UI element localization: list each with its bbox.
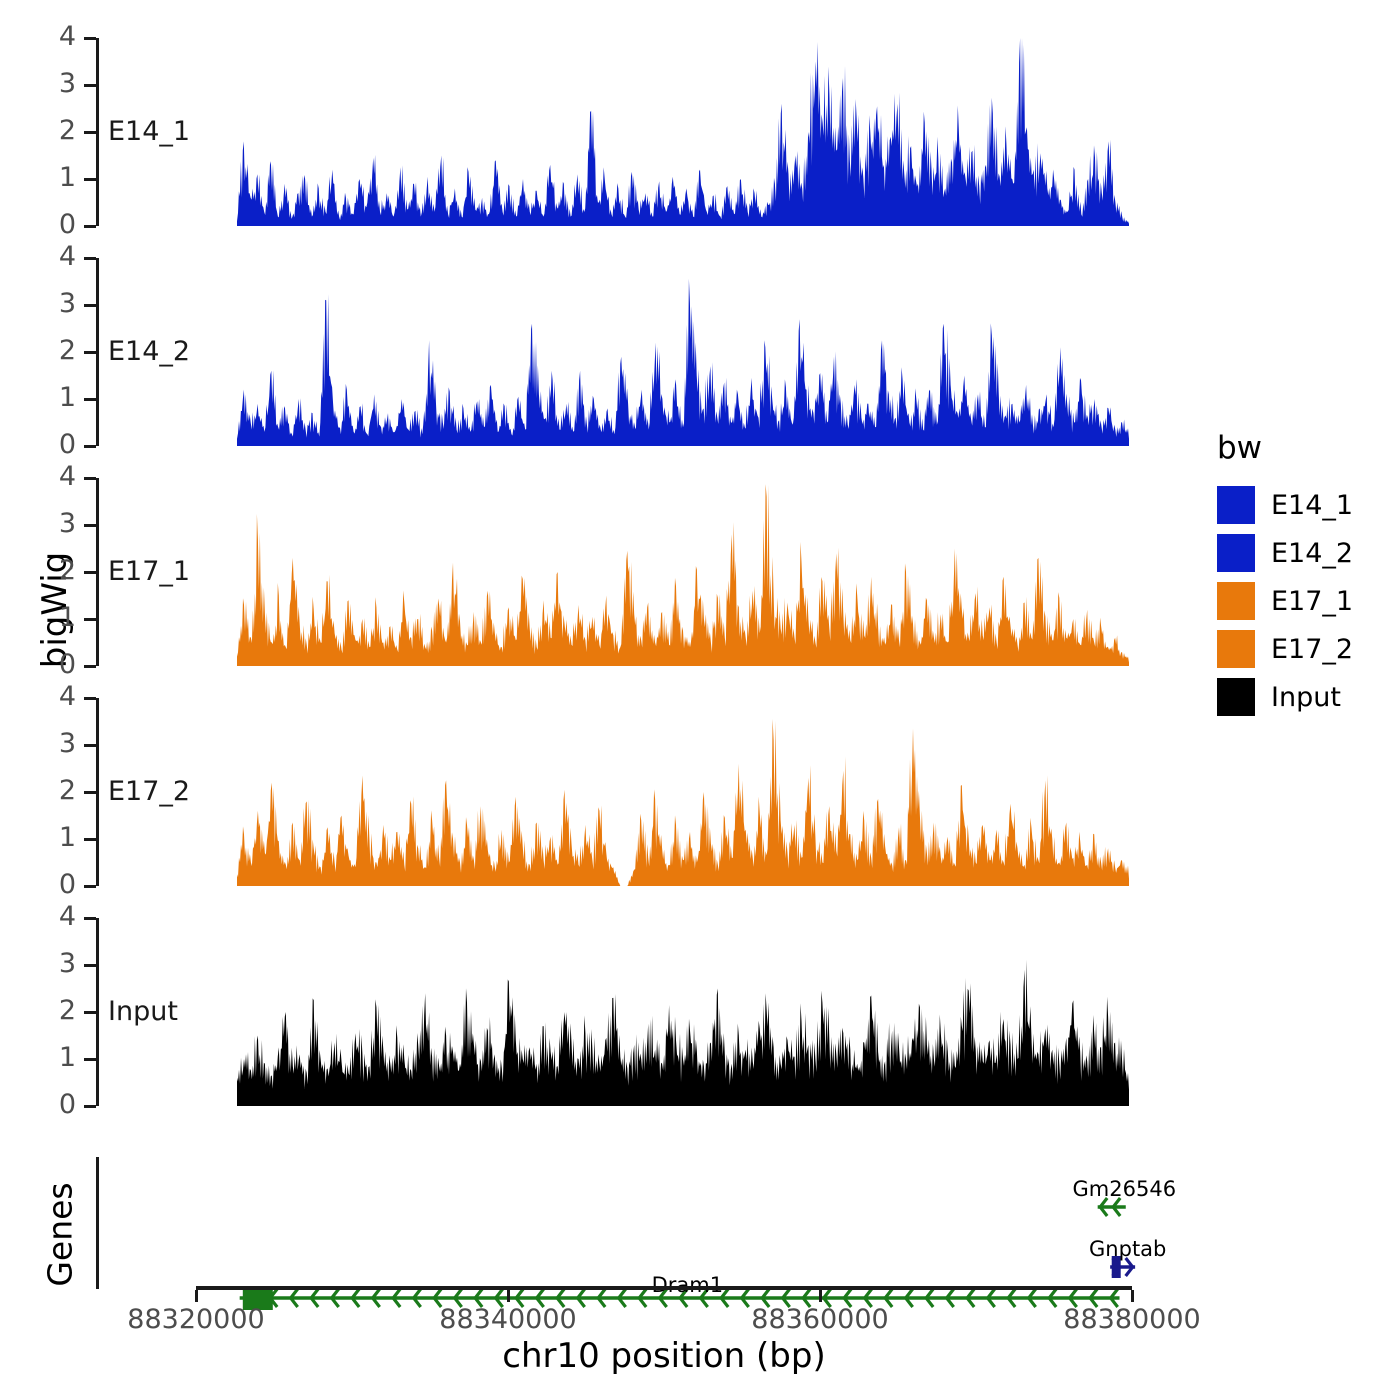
y-tick-mark (84, 571, 96, 574)
y-tick-mark (84, 257, 96, 260)
y-tick-label: 2 (40, 777, 76, 804)
coverage-path (237, 484, 1129, 666)
x-tick-mark (1131, 1290, 1134, 1302)
y-tick-label: 2 (40, 557, 76, 584)
legend-label-e17_2: E17_2 (1271, 634, 1353, 665)
y-tick-label: 4 (40, 683, 76, 710)
y-tick-label: 1 (40, 604, 76, 631)
gene-label-gnptab: Gnptab (1089, 1237, 1166, 1261)
track-e14_1: 43210E14_1 (0, 38, 1200, 226)
y-tick-mark (84, 37, 96, 40)
y-tick-mark (84, 178, 96, 181)
track-e14_2: 43210E14_2 (0, 258, 1200, 446)
coverage-area-e14_1 (99, 38, 1132, 226)
legend-swatch-e14_2 (1217, 534, 1255, 572)
y-tick-mark (84, 665, 96, 668)
x-axis: 88320000883400008836000088380000 (0, 1286, 1400, 1326)
legend-label-input: Input (1271, 682, 1341, 713)
y-tick-mark (84, 351, 96, 354)
y-tick-label: 0 (40, 1091, 76, 1118)
legend-label-e17_1: E17_1 (1271, 586, 1353, 617)
coverage-area-e17_1 (99, 478, 1132, 666)
x-tick-mark (195, 1290, 198, 1302)
track-e17_2: 43210E17_2 (0, 698, 1200, 886)
coverage-area-e17_2 (99, 698, 1132, 886)
y-tick-mark (84, 84, 96, 87)
x-tick-label: 88360000 (700, 1304, 940, 1335)
y-tick-mark (84, 964, 96, 967)
x-tick-mark (507, 1290, 510, 1302)
y-tick-label: 4 (40, 903, 76, 930)
y-tick-mark (84, 917, 96, 920)
y-tick-mark (84, 477, 96, 480)
y-tick-label: 4 (40, 243, 76, 270)
y-tick-label: 3 (40, 70, 76, 97)
legend-label-e14_2: E14_2 (1271, 538, 1353, 569)
y-tick-mark (84, 791, 96, 794)
y-tick-label: 3 (40, 510, 76, 537)
y-tick-label: 2 (40, 337, 76, 364)
x-tick-label: 88320000 (76, 1304, 316, 1335)
coverage-path (237, 960, 1129, 1106)
coverage-area-input (99, 918, 1132, 1106)
coverage-path (237, 38, 1129, 226)
coverage-path (237, 279, 1129, 446)
y-tick-label: 4 (40, 23, 76, 50)
gene-label-gm26546: Gm26546 (1073, 1177, 1177, 1201)
y-tick-mark (84, 1058, 96, 1061)
y-tick-label: 1 (40, 1044, 76, 1071)
y-tick-label: 2 (40, 997, 76, 1024)
y-tick-mark (84, 304, 96, 307)
y-tick-label: 1 (40, 384, 76, 411)
legend-swatch-e14_1 (1217, 486, 1255, 524)
y-tick-label: 3 (40, 950, 76, 977)
y-tick-mark (84, 131, 96, 134)
x-axis-line (196, 1286, 1132, 1290)
y-tick-label: 3 (40, 730, 76, 757)
x-tick-mark (819, 1290, 822, 1302)
legend-swatch-e17_2 (1217, 630, 1255, 668)
x-axis-title: chr10 position (bp) (196, 1336, 1132, 1376)
y-tick-label: 0 (40, 871, 76, 898)
y-tick-label: 0 (40, 211, 76, 238)
y-tick-mark (84, 1105, 96, 1108)
track-input: 43210Input (0, 918, 1200, 1106)
x-tick-label: 88340000 (388, 1304, 628, 1335)
y-tick-mark (84, 524, 96, 527)
legend-swatch-input (1217, 678, 1255, 716)
coverage-path (237, 719, 1129, 886)
y-tick-label: 3 (40, 290, 76, 317)
coverage-area-e14_2 (99, 258, 1132, 446)
legend-swatch-e17_1 (1217, 582, 1255, 620)
y-tick-mark (84, 744, 96, 747)
y-tick-mark (84, 225, 96, 228)
y-tick-mark (84, 398, 96, 401)
y-tick-mark (84, 445, 96, 448)
y-tick-mark (84, 697, 96, 700)
y-tick-label: 4 (40, 463, 76, 490)
track-e17_1: 43210E17_1 (0, 478, 1200, 666)
y-tick-label: 2 (40, 117, 76, 144)
y-tick-mark (84, 885, 96, 888)
y-tick-mark (84, 1011, 96, 1014)
y-tick-label: 1 (40, 164, 76, 191)
y-tick-mark (84, 618, 96, 621)
legend-title: bw (1217, 430, 1262, 466)
legend-label-e14_1: E14_1 (1271, 490, 1353, 521)
y-tick-label: 0 (40, 651, 76, 678)
y-tick-label: 0 (40, 431, 76, 458)
y-tick-mark (84, 838, 96, 841)
y-tick-label: 1 (40, 824, 76, 851)
x-tick-label: 88380000 (1012, 1304, 1252, 1335)
